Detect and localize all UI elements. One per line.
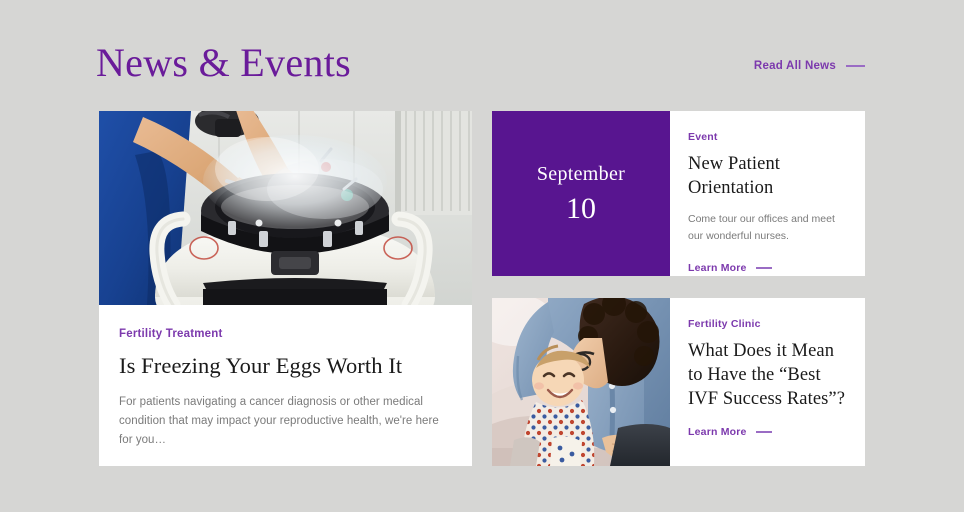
event-date-block: September 10	[492, 111, 670, 276]
event-card-headline: New Patient Orientation	[688, 152, 847, 200]
feature-article-body: Fertility Treatment Is Freezing Your Egg…	[99, 305, 472, 466]
story-card-learn-more-label: Learn More	[688, 426, 747, 438]
long-dash-arrow-icon	[846, 65, 865, 67]
page-title: News & Events	[96, 40, 351, 86]
feature-article-excerpt: For patients navigating a cancer diagnos…	[119, 393, 450, 450]
story-card-category: Fertility Clinic	[688, 318, 847, 330]
long-dash-arrow-icon	[756, 431, 772, 433]
feature-article-image	[99, 111, 472, 305]
event-date-month: September	[537, 162, 625, 186]
event-card-category: Event	[688, 131, 847, 143]
news-and-events-section: News & Events Read All News	[0, 0, 964, 512]
story-card-image	[492, 298, 670, 466]
read-all-news-label: Read All News	[754, 60, 836, 72]
story-card[interactable]: Fertility Clinic What Does it Mean to Ha…	[492, 298, 865, 466]
read-all-news-link[interactable]: Read All News	[754, 60, 865, 72]
feature-article-headline: Is Freezing Your Eggs Worth It	[119, 352, 450, 380]
story-card-learn-more-link[interactable]: Learn More	[688, 426, 772, 438]
feature-article-card[interactable]: Fertility Treatment Is Freezing Your Egg…	[99, 111, 472, 466]
story-card-body: Fertility Clinic What Does it Mean to Ha…	[670, 298, 865, 466]
right-column: September 10 Event New Patient Orientati…	[492, 111, 865, 466]
event-card-excerpt: Come tour our offices and meet our wonde…	[688, 211, 847, 245]
section-header: News & Events Read All News	[99, 40, 865, 88]
event-card-body: Event New Patient Orientation Come tour …	[670, 111, 865, 276]
story-card-headline: What Does it Mean to Have the “Best IVF …	[688, 339, 847, 411]
event-card-learn-more-link[interactable]: Learn More	[688, 262, 772, 274]
event-date-day: 10	[566, 192, 596, 226]
event-card[interactable]: September 10 Event New Patient Orientati…	[492, 111, 865, 276]
parent-and-baby-illustration	[492, 298, 670, 466]
feature-article-category: Fertility Treatment	[119, 328, 450, 340]
cryogenic-tank-illustration	[99, 111, 472, 305]
event-card-learn-more-label: Learn More	[688, 262, 747, 274]
long-dash-arrow-icon	[756, 267, 772, 269]
